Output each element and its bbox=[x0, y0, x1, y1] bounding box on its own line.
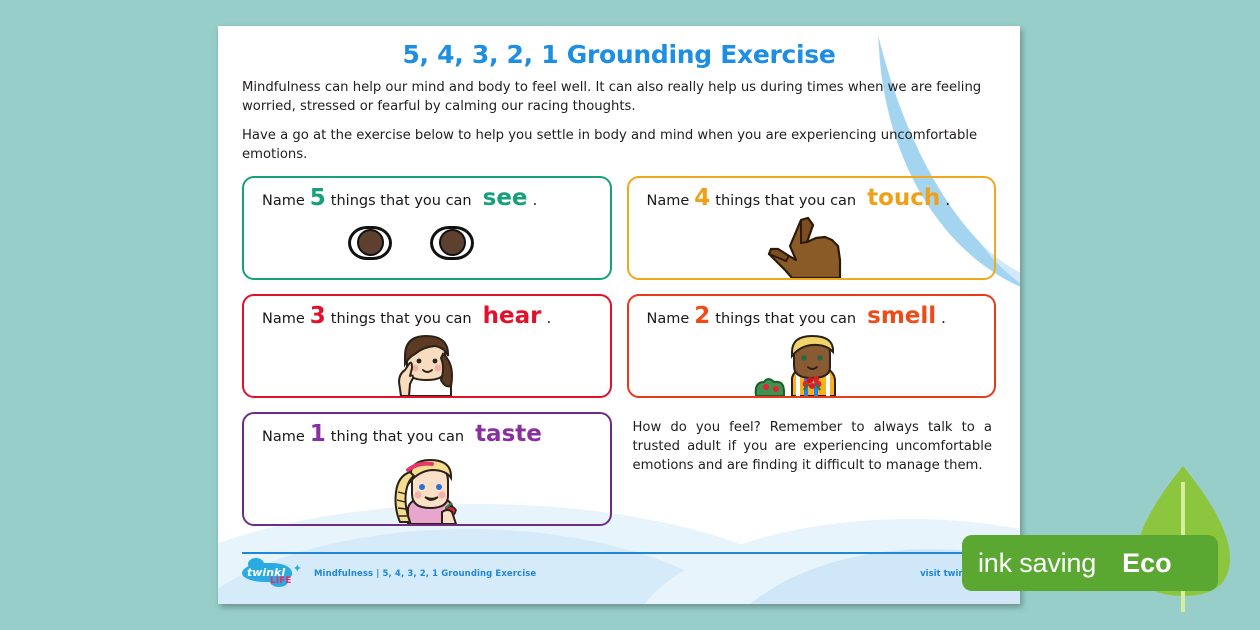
footer-row: twinkl LIFE ✦ Mindfulness | 5, 4, 3, 2, … bbox=[242, 562, 996, 586]
intro-paragraph-2: Have a go at the exercise below to help … bbox=[242, 127, 996, 164]
pointing-hand-icon bbox=[629, 216, 995, 278]
prompt-grid: Name 5 things that you can see . bbox=[242, 176, 996, 526]
prompt-period-see: . bbox=[533, 191, 538, 209]
prompt-middle-taste: thing that you can bbox=[331, 429, 464, 445]
prompt-number-see: 5 bbox=[310, 187, 326, 210]
girl-eating-strawberry-icon bbox=[244, 452, 610, 524]
prompt-period-hear: . bbox=[546, 309, 551, 327]
intro-paragraph-1: Mindfulness can help our mind and body t… bbox=[242, 79, 996, 116]
twinkl-life-label: LIFE bbox=[270, 576, 291, 586]
girl-listening-icon bbox=[244, 334, 610, 396]
prompt-number-smell: 2 bbox=[694, 305, 710, 328]
prompt-middle-see: things that you can bbox=[331, 193, 472, 209]
twinkl-logo[interactable]: twinkl LIFE ✦ bbox=[242, 562, 304, 586]
prompt-line-touch: Name 4 things that you can touch . bbox=[629, 178, 995, 210]
prompt-lead-see: Name bbox=[262, 193, 305, 209]
prompt-middle-hear: things that you can bbox=[331, 311, 472, 327]
prompt-line-smell: Name 2 things that you can smell . bbox=[629, 296, 995, 328]
prompt-lead-touch: Name bbox=[647, 193, 690, 209]
prompt-number-taste: 1 bbox=[310, 423, 326, 446]
eco-badge: ink saving Eco bbox=[962, 535, 1218, 591]
prompt-line-see: Name 5 things that you can see . bbox=[244, 178, 610, 210]
footer-label: Mindfulness | 5, 4, 3, 2, 1 Grounding Ex… bbox=[314, 569, 536, 579]
eco-badge-word: Eco bbox=[1122, 548, 1172, 579]
prompt-sense-smell: smell bbox=[867, 305, 936, 328]
page-title: 5, 4, 3, 2, 1 Grounding Exercise bbox=[242, 40, 996, 69]
prompt-number-touch: 4 bbox=[694, 187, 710, 210]
prompt-lead-taste: Name bbox=[262, 429, 305, 445]
prompt-box-see[interactable]: Name 5 things that you can see . bbox=[242, 176, 612, 280]
prompt-lead-smell: Name bbox=[647, 311, 690, 327]
prompt-sense-taste: taste bbox=[475, 423, 542, 446]
prompt-sense-hear: hear bbox=[483, 305, 542, 328]
prompt-middle-touch: things that you can bbox=[715, 193, 856, 209]
footer-divider bbox=[242, 552, 996, 554]
closing-paragraph: How do you feel? Remember to always talk… bbox=[627, 412, 997, 526]
worksheet-page: 5, 4, 3, 2, 1 Grounding Exercise Mindful… bbox=[218, 26, 1020, 604]
prompt-number-hear: 3 bbox=[310, 305, 326, 328]
prompt-period-touch: . bbox=[945, 191, 950, 209]
prompt-lead-hear: Name bbox=[262, 311, 305, 327]
prompt-line-taste: Name 1 thing that you can taste bbox=[244, 414, 610, 446]
boy-smelling-flowers-icon bbox=[629, 334, 995, 396]
prompt-sense-see: see bbox=[483, 187, 528, 210]
prompt-middle-smell: things that you can bbox=[715, 311, 856, 327]
footer: twinkl LIFE ✦ Mindfulness | 5, 4, 3, 2, … bbox=[218, 552, 1020, 586]
prompt-box-taste[interactable]: Name 1 thing that you can taste bbox=[242, 412, 612, 526]
prompt-period-smell: . bbox=[941, 309, 946, 327]
sparkle-icon: ✦ bbox=[293, 562, 302, 575]
eco-badge-text: ink saving bbox=[962, 548, 1096, 579]
prompt-box-hear[interactable]: Name 3 things that you can hear . bbox=[242, 294, 612, 398]
eyes-icon bbox=[244, 216, 610, 278]
prompt-box-smell[interactable]: Name 2 things that you can smell . bbox=[627, 294, 997, 398]
prompt-sense-touch: touch bbox=[867, 187, 940, 210]
prompt-box-touch[interactable]: Name 4 things that you can touch . bbox=[627, 176, 997, 280]
prompt-line-hear: Name 3 things that you can hear . bbox=[244, 296, 610, 328]
